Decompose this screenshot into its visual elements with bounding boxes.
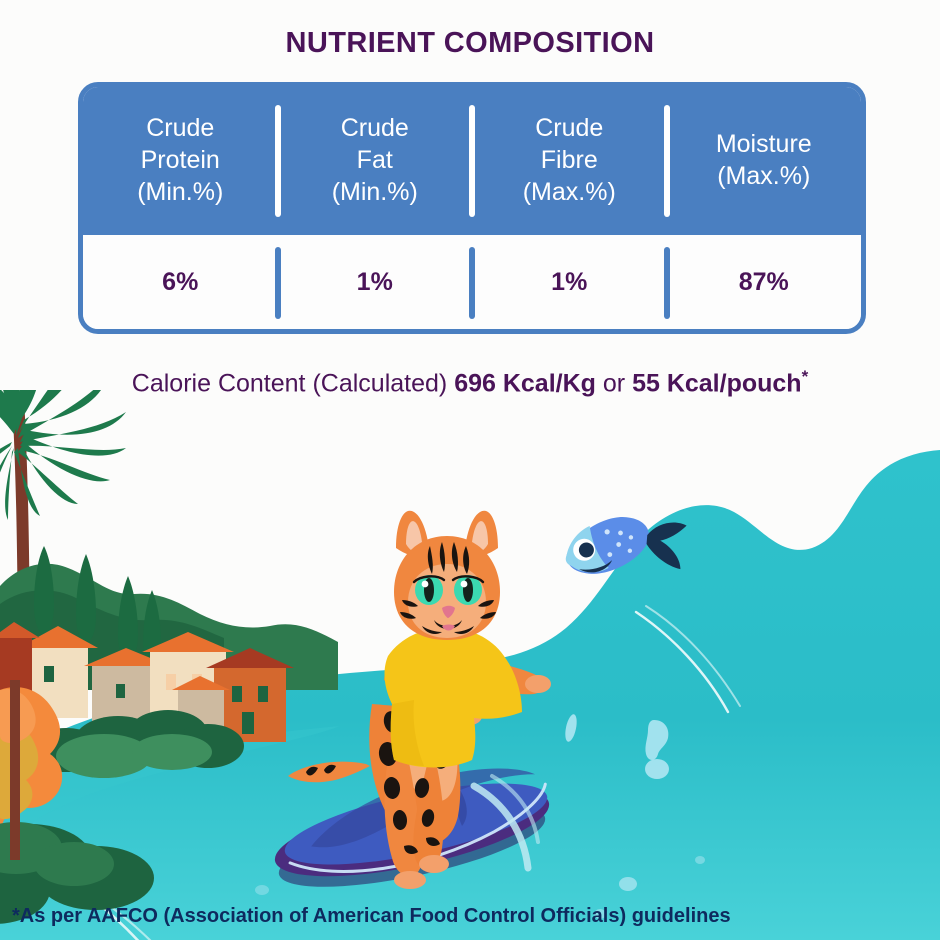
calorie-conjunction: or	[596, 369, 632, 397]
cat-eye-glint-right	[461, 581, 468, 588]
table-value-moisture: 87%	[739, 268, 789, 297]
nutrient-composition-page: NUTRIENT COMPOSITION Crude Protein (Min.…	[0, 0, 940, 940]
header-line-2: (Max.%)	[717, 162, 810, 190]
calorie-asterisk: *	[802, 367, 809, 386]
table-header-cell-moisture: Moisture (Max.%)	[667, 87, 862, 235]
header-divider-icon	[275, 105, 281, 217]
page-title: NUTRIENT COMPOSITION	[0, 27, 940, 60]
header-line-1: Crude	[535, 114, 603, 142]
cat-paw-left	[394, 871, 426, 889]
body-divider-icon	[664, 247, 670, 319]
table-value-crude-protein: 6%	[83, 235, 278, 329]
table-value-cell-crude-fibre: 1%	[472, 235, 667, 329]
header-line-3: (Min.%)	[332, 178, 418, 206]
header-line-3: (Max.%)	[523, 178, 616, 206]
table-header-row: Crude Protein (Min.%) Crude Fat (Min.%) …	[83, 87, 861, 235]
header-divider-icon	[469, 105, 475, 217]
footnote-aafco: *As per AAFCO (Association of American F…	[12, 905, 731, 928]
header-line-1: Crude	[146, 114, 214, 142]
header-divider-icon	[664, 105, 670, 217]
header-line-1: Crude	[341, 114, 409, 142]
nutrient-table: Crude Protein (Min.%) Crude Fat (Min.%) …	[78, 82, 866, 334]
table-value-cell-crude-fat: 1%	[278, 235, 473, 329]
left-trunk-stripe	[10, 680, 20, 860]
table-header-cell-crude-fibre: Crude Fibre (Max.%)	[472, 87, 667, 235]
header-line-2: Fibre	[541, 146, 598, 174]
cat-eye-glint-left	[422, 581, 429, 588]
table-header-cell-crude-fat: Crude Fat (Min.%)	[278, 87, 473, 235]
calorie-per-pouch: 55 Kcal/pouch	[632, 369, 802, 397]
header-line-1: Moisture	[716, 130, 812, 158]
body-divider-icon	[275, 247, 281, 319]
illustration-scene	[0, 390, 940, 940]
cat-paw-hand-right	[525, 675, 551, 693]
header-line-2: Fat	[357, 146, 393, 174]
header-line-2: Protein	[141, 146, 220, 174]
table-header-cell-crude-protein: Crude Protein (Min.%)	[83, 87, 278, 235]
calorie-content-line: Calorie Content (Calculated) 696 Kcal/Kg…	[0, 367, 940, 398]
calorie-per-kg: 696 Kcal/Kg	[454, 369, 596, 397]
table-value-cell-moisture: 87%	[667, 235, 862, 329]
header-line-3: (Min.%)	[137, 178, 223, 206]
calorie-prefix: Calorie Content (Calculated)	[132, 369, 454, 397]
table-value-crude-fat: 1%	[357, 268, 393, 297]
cat-paw-right	[419, 855, 449, 873]
body-divider-icon	[469, 247, 475, 319]
table-value-crude-fibre: 1%	[551, 268, 587, 297]
table-value-row: 6% 1% 1% 87%	[83, 235, 861, 329]
